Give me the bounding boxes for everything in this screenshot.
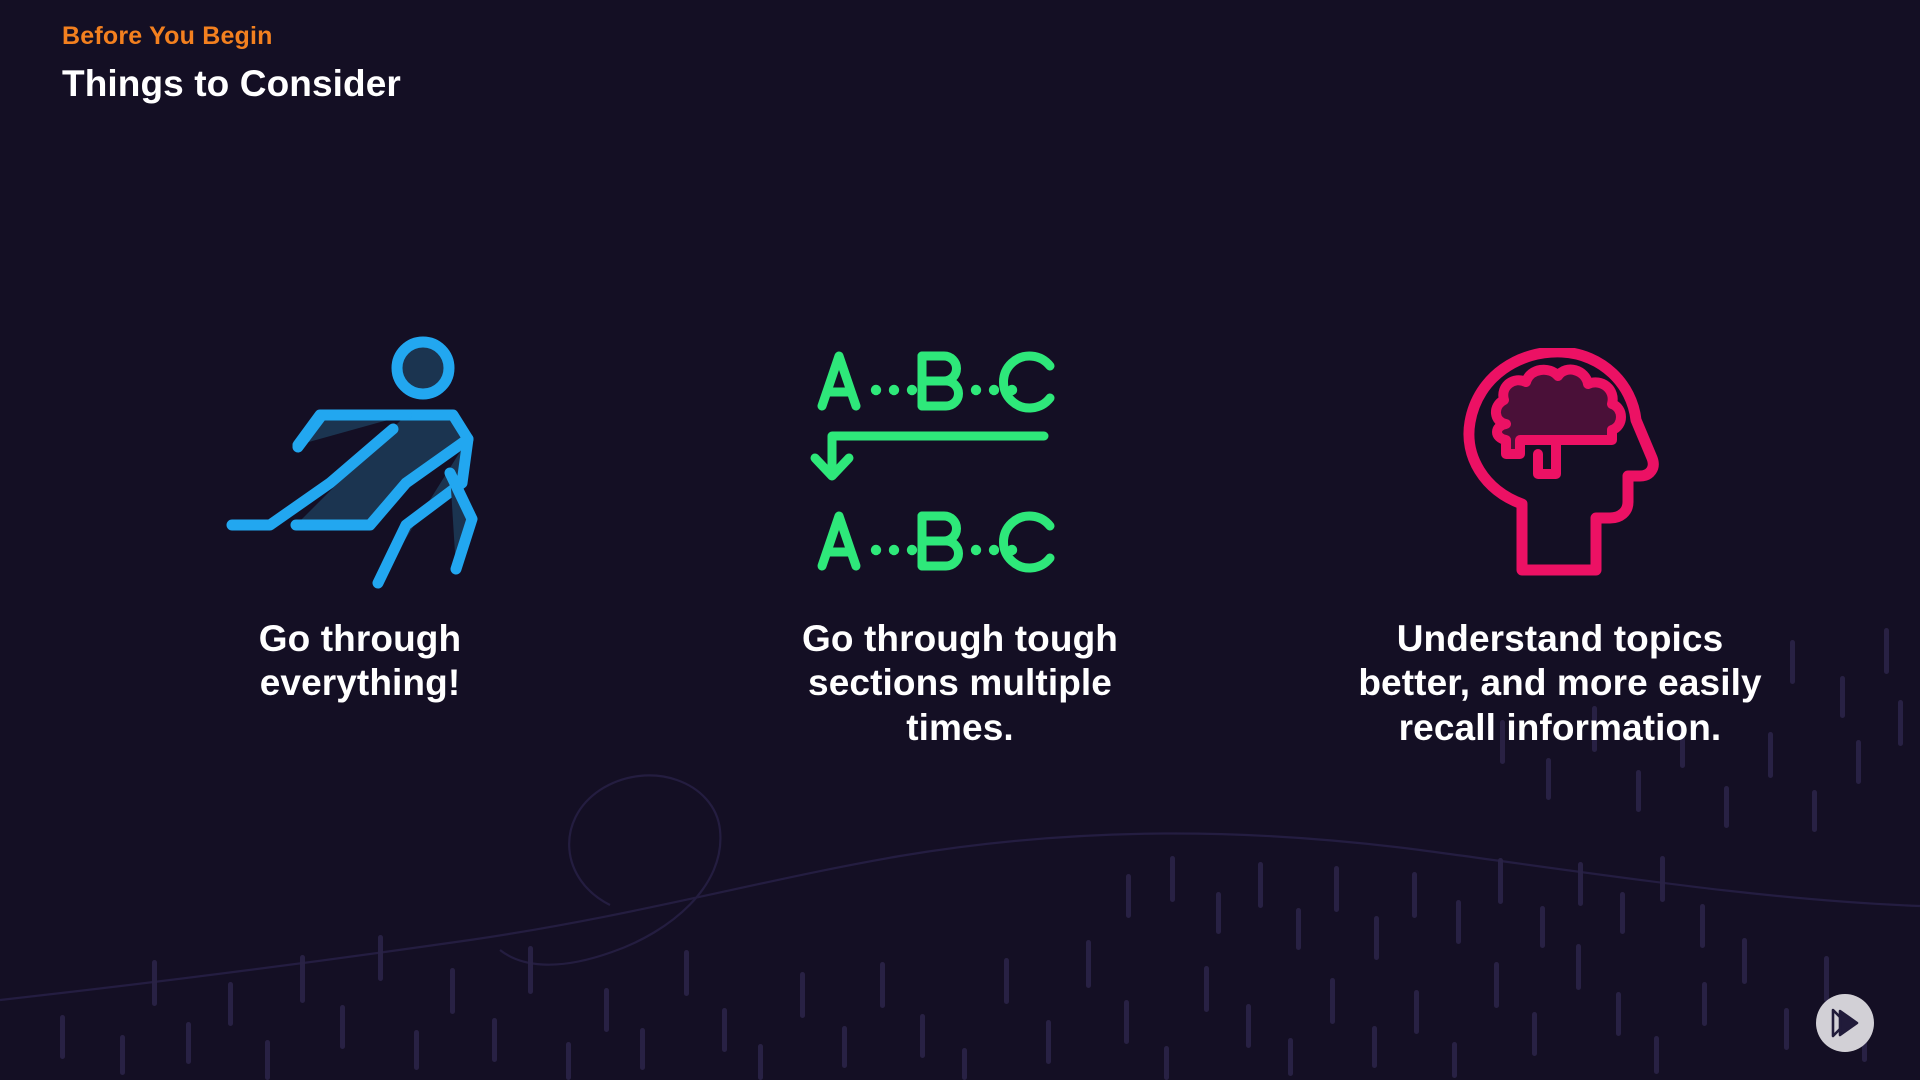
- column-go-through-everything: Go through everything!: [150, 330, 570, 706]
- slide: Before You Begin Things to Consider: [0, 0, 1920, 1080]
- head-brain-icon: [1460, 348, 1660, 578]
- runner-art: [210, 330, 510, 595]
- abc-loop-art: [810, 330, 1110, 595]
- content-columns: Go through everything!: [0, 330, 1920, 750]
- brain-art: [1460, 330, 1660, 595]
- column-go-through-tough-sections: Go through tough sections multiple times…: [750, 330, 1170, 750]
- eyebrow-label: Before You Begin: [62, 20, 401, 54]
- column-understand-topics-better: Understand topics better, and more easil…: [1350, 330, 1770, 750]
- play-forward-icon: [1828, 1007, 1862, 1039]
- slide-header: Before You Begin Things to Consider: [62, 20, 401, 109]
- running-person-icon: [210, 333, 510, 593]
- caption-text: Go through everything!: [160, 617, 560, 706]
- abc-repeat-loop-icon: [810, 348, 1110, 578]
- play-forward-button[interactable]: [1816, 994, 1874, 1052]
- page-title: Things to Consider: [62, 59, 401, 109]
- caption-text: Understand topics better, and more easil…: [1350, 617, 1770, 750]
- caption-text: Go through tough sections multiple times…: [760, 617, 1160, 750]
